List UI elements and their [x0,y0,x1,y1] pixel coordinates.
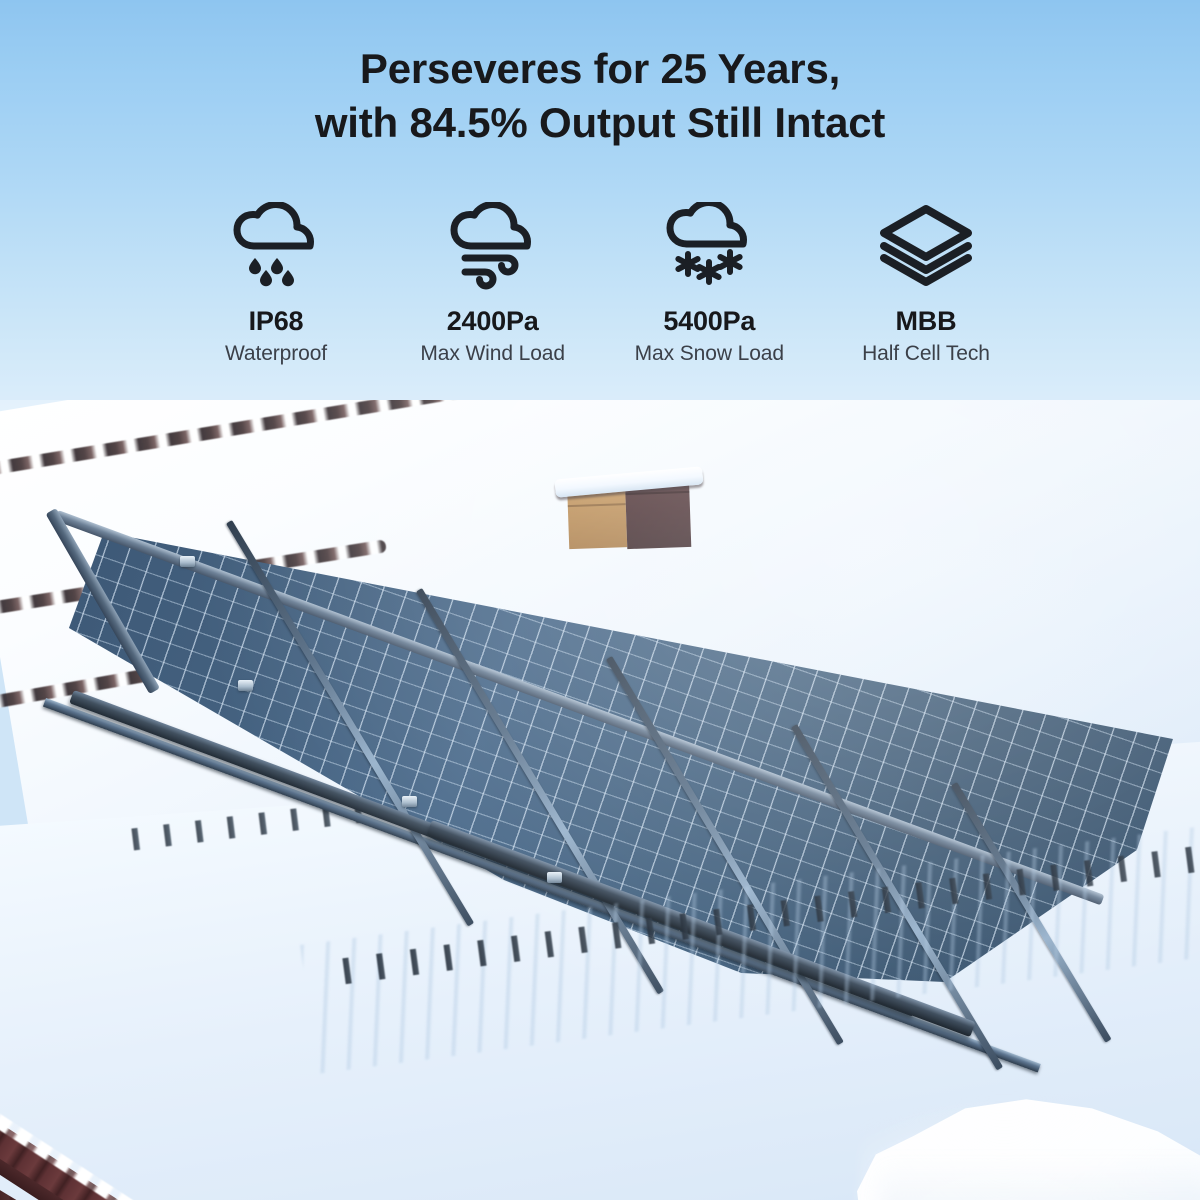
mounting-clamp [547,872,562,883]
feature-waterproof: IP68 Waterproof [168,198,384,366]
feature-value: 5400Pa [601,306,817,337]
rain-cloud-icon [168,198,384,294]
feature-value: 2400Pa [385,306,601,337]
promo-image: Perseveres for 25 Years, with 84.5% Outp… [0,0,1200,1200]
snow-drift-shadow [880,1160,1200,1200]
page-title: Perseveres for 25 Years, with 84.5% Outp… [0,42,1200,150]
feature-max-snow-load: 5400Pa Max Snow Load [601,198,817,366]
feature-label: Max Wind Load [385,342,601,366]
feature-label: Waterproof [168,342,384,366]
feature-mbb-half-cell: MBB Half Cell Tech [818,198,1034,366]
headline-line-1: Perseveres for 25 Years, [0,42,1200,96]
feature-value: MBB [818,306,1034,337]
feature-value: IP68 [168,306,384,337]
feature-label: Half Cell Tech [818,342,1034,366]
mounting-clamp [180,556,195,567]
wind-cloud-icon [385,198,601,294]
stacked-layers-icon [818,198,1034,294]
rooftop-solar-photo [0,400,1200,1200]
mounting-clamp [238,680,253,691]
mounting-clamp [402,796,417,807]
headline-line-2: with 84.5% Output Still Intact [0,96,1200,150]
feature-label: Max Snow Load [601,342,817,366]
feature-spec-row: IP68 Waterproof 2400Pa Max Wind Load [168,198,1034,366]
snow-cloud-icon [601,198,817,294]
gable-building [0,1090,260,1200]
feature-max-wind-load: 2400Pa Max Wind Load [385,198,601,366]
